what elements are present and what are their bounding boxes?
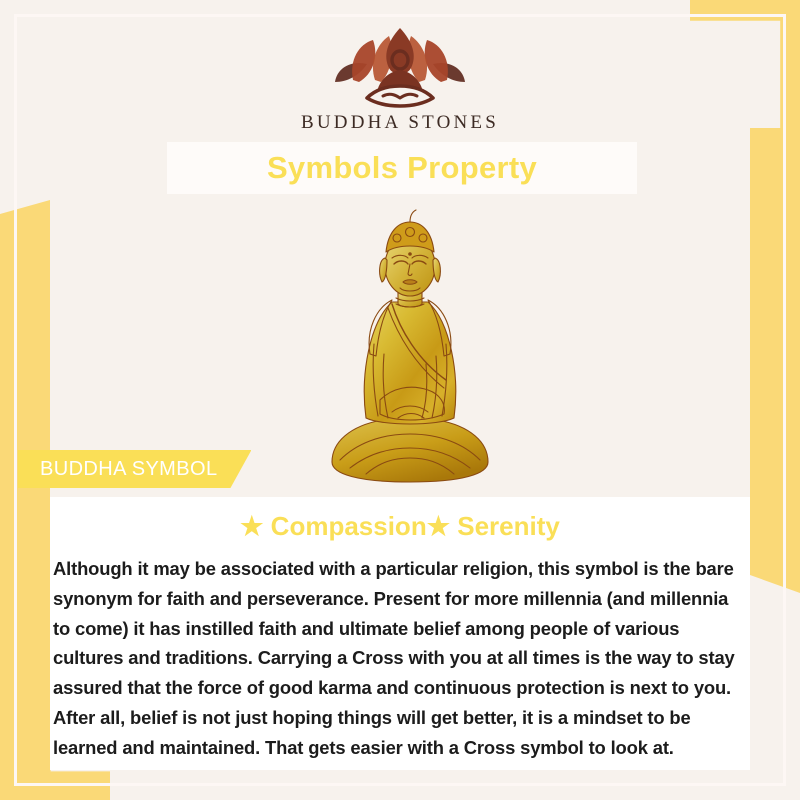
content-subtitle: ★ Compassion★ Serenity [50, 511, 750, 542]
title-banner: Symbols Property [167, 142, 637, 194]
page-title: Symbols Property [267, 150, 537, 186]
infographic-page: BUDDHA STONES Symbols Property [0, 0, 800, 800]
golden-buddha-statue-image [322, 204, 498, 496]
section-tag-buddha-symbol: BUDDHA SYMBOL [18, 450, 251, 488]
brand-name: BUDDHA STONES [0, 112, 800, 134]
section-tag-label: BUDDHA SYMBOL [40, 458, 217, 481]
content-paragraph: Although it may be associated with a par… [50, 554, 750, 763]
content-panel: ★ Compassion★ Serenity Although it may b… [50, 497, 750, 770]
lotus-meditation-icon [315, 24, 485, 110]
buddha-statue-icon [322, 204, 498, 496]
side-band-right [750, 128, 800, 593]
brand-logo: BUDDHA STONES [0, 24, 800, 134]
